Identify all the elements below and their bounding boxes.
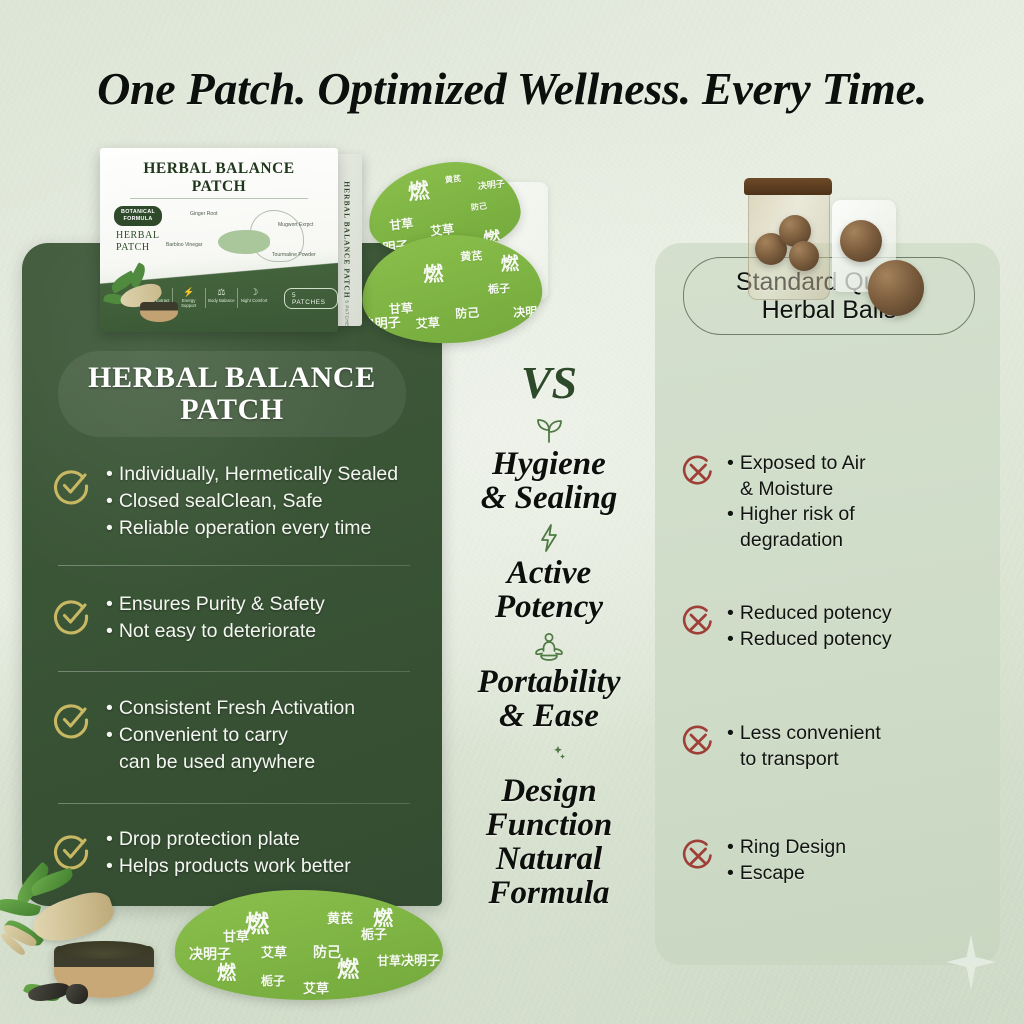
moon-stars-icon — [452, 739, 646, 773]
jar-lid — [744, 178, 832, 195]
x-circle-icon — [681, 839, 715, 873]
patch-character: 栀子 — [261, 972, 285, 989]
pro-bullet: Ensures Purity & Safety — [119, 593, 325, 615]
glass-jar — [748, 190, 830, 300]
pros-title-line1: HERBAL BALANCE — [88, 361, 376, 394]
pro-bullet-list: •Individually, Hermetically Sealed •Clos… — [106, 461, 398, 542]
product-box-front: HERBAL BALANCE PATCH BOTANICAL FORMULA H… — [100, 148, 338, 332]
dried-herbs — [56, 941, 152, 959]
cons-panel: Standard Quality Herbal Balls •Exposed t… — [655, 243, 1000, 965]
pro-item: •Consistent Fresh Activation •Convenient… — [52, 695, 430, 776]
night-comfort-icon: ☽ — [239, 288, 269, 298]
pro-bullet: Individually, Hermetically Sealed — [119, 463, 398, 485]
herb-bowl-icon — [140, 302, 178, 322]
box-rule — [130, 198, 308, 199]
box-side-title: HERBAL BALANCE PATCH — [343, 181, 352, 298]
con-bullet-continuation: to transport — [740, 748, 839, 770]
box-title-line1: HERBAL BALANCE — [143, 160, 294, 177]
con-bullet: Escape — [740, 862, 805, 884]
x-circle-icon — [681, 725, 715, 759]
box-feature-label: Body Balance — [208, 298, 235, 303]
box-callout: Mugwort Exrpct — [278, 222, 313, 228]
patch-character: 艾草 — [303, 978, 329, 997]
body-balance-icon: ⚖ — [207, 288, 237, 298]
patch-character: 艾草 — [261, 942, 287, 961]
comparison-criterion: Design Function Natural Formula — [452, 739, 646, 910]
product-box-image: HERBAL BALANCE PATCH 5 PATCHES HERBAL BA… — [100, 148, 362, 332]
check-circle-icon — [52, 595, 92, 635]
box-feature-item: ⚖ Body Balance — [206, 288, 239, 308]
sprout-icon — [452, 412, 646, 446]
lightning-bolt-icon — [452, 521, 646, 555]
badge-line1: BOTANICAL — [121, 209, 155, 215]
vs-label: VS — [452, 360, 646, 406]
con-bullet-list: •Less convenient to transport — [727, 721, 881, 772]
patch-character: 防己 — [455, 304, 480, 322]
patch-character: 决明子 — [477, 177, 505, 193]
comparison-criterion: Portability & Ease — [452, 630, 646, 733]
pro-bullet: Drop protection plate — [119, 828, 300, 850]
x-circle-icon — [681, 605, 715, 639]
pros-panel-title: HERBAL BALANCE PATCH — [58, 351, 406, 437]
box-subtitle-line2: PATCH — [116, 242, 150, 253]
herbal-balls-image — [740, 168, 950, 328]
con-bullet: Exposed to Air — [740, 452, 866, 474]
criterion-line1: Design — [501, 773, 596, 809]
box-illustration-body — [218, 230, 270, 254]
pros-divider — [58, 803, 410, 804]
box-title: HERBAL BALANCE PATCH — [100, 160, 338, 197]
pros-divider — [58, 671, 410, 672]
con-item: •Reduced potency •Reduced potency — [681, 601, 981, 652]
page-title: One Patch. Optimized Wellness. Every Tim… — [0, 62, 1024, 115]
x-circle-icon — [681, 455, 715, 489]
con-bullet-list: •Reduced potency •Reduced potency — [727, 601, 892, 652]
criterion-line1: Hygiene — [492, 446, 606, 482]
patch-character: 甘草 — [377, 952, 401, 969]
charcoal-piece — [66, 984, 88, 1004]
box-feature-item: ☽ Night Comfort — [238, 288, 270, 308]
criterion-line2: Function — [486, 807, 613, 843]
criterion-line2: & Ease — [499, 698, 599, 734]
box-patch-count-badge: 5 PATCHES — [284, 288, 338, 309]
criterion-line3: Natural — [496, 841, 602, 877]
patch-character: 决明子 — [513, 302, 545, 321]
pro-bullet: Convenient to carry — [119, 724, 288, 746]
con-item: •Ring Design •Escape — [681, 835, 981, 886]
patch-character: 燃 — [422, 257, 443, 287]
con-bullet: Higher risk of — [740, 503, 855, 525]
box-callout: Barbloo Vinegar — [166, 242, 202, 248]
herbal-ball — [840, 220, 882, 262]
pro-bullet: Reliable operation every time — [119, 517, 372, 539]
con-item: •Less convenient to transport — [681, 721, 981, 772]
criterion-line1: Active — [507, 555, 591, 591]
patch-character: 甘草 — [389, 214, 415, 233]
criterion-line2: & Sealing — [481, 480, 618, 516]
patch-character: 燃 — [406, 175, 430, 207]
criterion-line4: Formula — [488, 875, 609, 911]
con-bullet-list: •Exposed to Air & Moisture •Higher risk … — [727, 451, 866, 554]
patch-character: 防己 — [313, 942, 341, 962]
box-title-line2: PATCH — [192, 178, 246, 195]
con-bullet-continuation: & Moisture — [740, 478, 833, 500]
con-bullet: Reduced potency — [740, 602, 892, 624]
meditation-icon — [452, 630, 646, 664]
pro-item: •Ensures Purity & Safety •Not easy to de… — [52, 591, 430, 645]
patch-character: 防己 — [470, 201, 487, 214]
patch-character: 决明子 — [361, 312, 401, 333]
pro-bullet: Not easy to deteriorate — [119, 620, 316, 642]
patch-character: 决明子 — [189, 944, 231, 964]
badge-line2: FORMULA — [123, 216, 152, 222]
con-bullet-list: •Ring Design •Escape — [727, 835, 846, 886]
pros-divider — [58, 565, 410, 566]
check-circle-icon — [52, 830, 92, 870]
con-bullet: Less convenient — [740, 722, 881, 744]
box-subtitle-line1: HERBAL — [116, 230, 160, 241]
pro-bullet-list: •Ensures Purity & Safety •Not easy to de… — [106, 591, 325, 645]
herbal-ball — [789, 241, 819, 271]
herb-decoration-image — [0, 872, 176, 1024]
box-callout: Ginger Root — [190, 211, 217, 217]
comparison-criterion: Active Potency — [452, 521, 646, 624]
patch-character: 决明子 — [401, 950, 440, 969]
con-bullet: Reduced potency — [740, 628, 892, 650]
box-side-subtitle: 5 PATCHES — [345, 300, 350, 326]
box-herb-illustration — [104, 264, 184, 330]
pro-bullet: Closed sealClean, Safe — [119, 490, 323, 512]
pro-bullet-continuation: can be used anywhere — [119, 751, 315, 773]
criterion-line1: Portability — [478, 664, 621, 700]
con-bullet-continuation: degradation — [740, 529, 843, 551]
comparison-criterion: Hygiene & Sealing — [452, 412, 646, 515]
patch-character: 黄芪 — [327, 908, 353, 927]
con-bullet: Ring Design — [740, 836, 846, 858]
patch-character: 艾草 — [415, 314, 440, 332]
patch-character: 黄芪 — [444, 173, 461, 186]
patch-character: 栀子 — [488, 280, 511, 297]
comparison-center-column: VS Hygiene & Sealing Active Potency — [452, 360, 646, 910]
box-feature-label: Night Comfort — [241, 298, 268, 303]
botanical-formula-badge: BOTANICAL FORMULA — [114, 206, 162, 226]
check-circle-icon — [52, 699, 92, 739]
check-circle-icon — [52, 465, 92, 505]
criterion-line2: Potency — [495, 589, 603, 625]
pro-item: •Individually, Hermetically Sealed •Clos… — [52, 461, 430, 542]
box-callout: Tourmaline Powder — [272, 252, 316, 258]
con-item: •Exposed to Air & Moisture •Higher risk … — [681, 451, 981, 554]
pros-panel: HERBAL BALANCE PATCH •Individually, Herm… — [22, 243, 442, 906]
pro-bullet: Consistent Fresh Activation — [119, 697, 355, 719]
pros-title-line2: PATCH — [180, 393, 284, 426]
patch-character: 燃 — [500, 249, 519, 276]
pro-bullet-list: •Consistent Fresh Activation •Convenient… — [106, 695, 355, 776]
herbal-ball — [868, 260, 924, 316]
patch-character: 黄芪 — [460, 247, 483, 264]
patch-character: 栀子 — [361, 924, 387, 943]
panel-sheen — [22, 243, 442, 906]
patch-character: 甘草 — [223, 926, 249, 945]
box-subtitle: HERBAL PATCH — [116, 230, 160, 254]
